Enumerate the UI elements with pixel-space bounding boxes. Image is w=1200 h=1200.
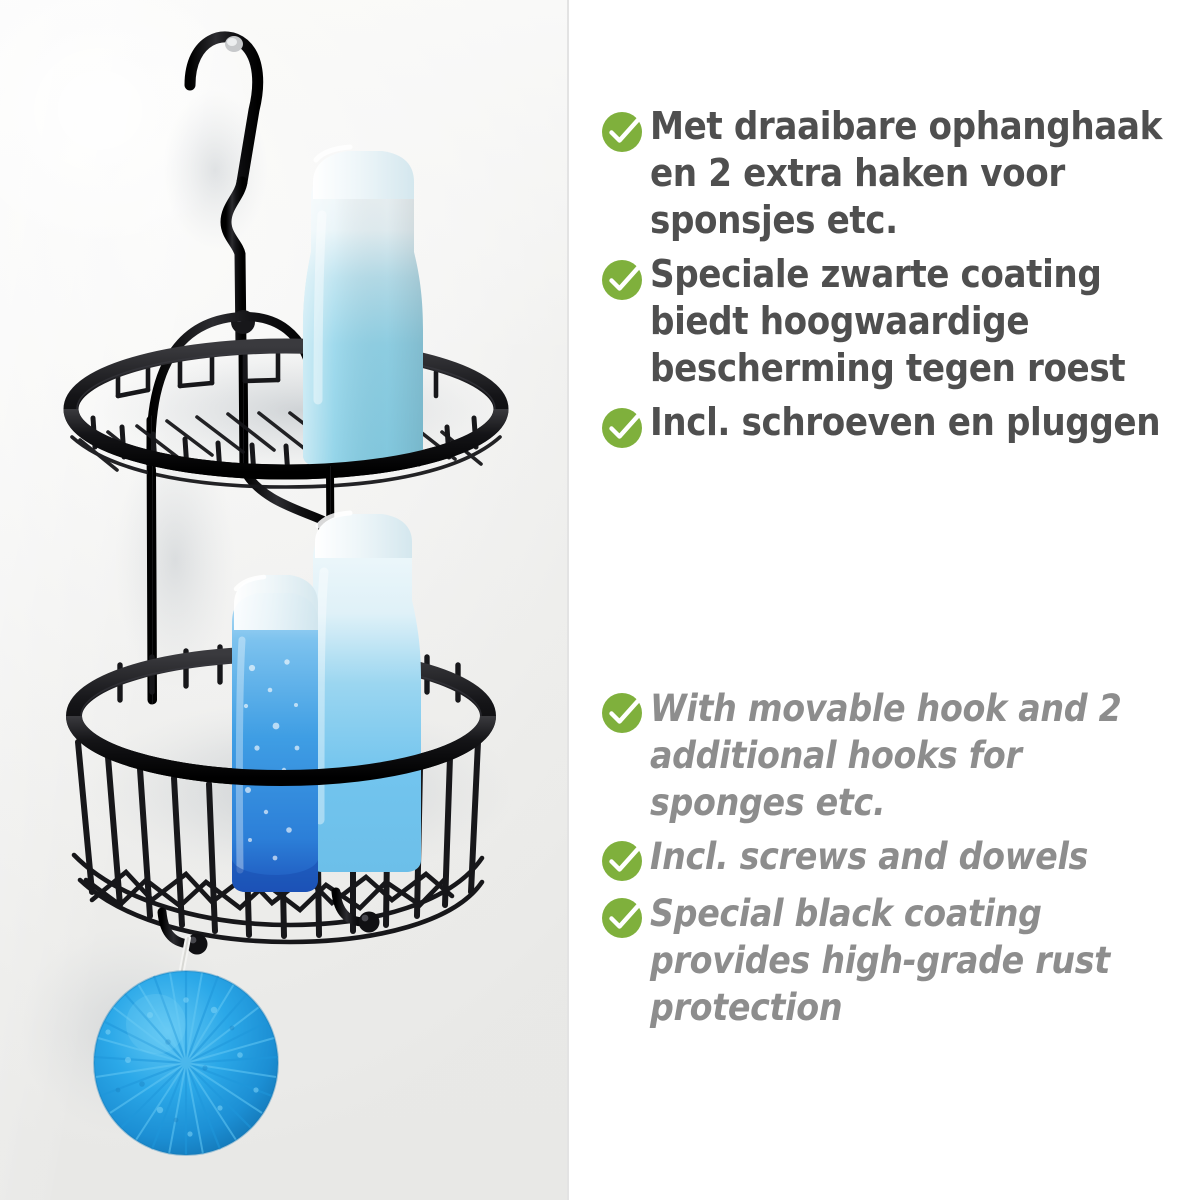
feature-item: With movable hook and 2 additional hooks… [600,685,1180,826]
check-circle-icon [600,837,646,883]
feature-list-dutch: Met draaibare ophanghaak en 2 extra hake… [600,103,1180,457]
feature-item: Incl. screws and dowels [600,833,1180,883]
shampoo-bottle-upper [303,147,423,466]
feature-list-english: With movable hook and 2 additional hooks… [600,685,1180,1038]
lotion-bottle-lower [309,513,421,872]
hook-ball-right [359,912,380,933]
feature-item: Met draaibare ophanghaak en 2 extra hake… [600,103,1180,244]
feature-text: Incl. screws and dowels [646,833,1180,880]
check-circle-icon [600,689,646,735]
feature-text: With movable hook and 2 additional hooks… [646,685,1180,826]
feature-item: Speciale zwarte coating biedt hoogwaardi… [600,251,1180,392]
check-circle-icon [600,256,646,302]
feature-list-panel: Met draaibare ophanghaak en 2 extra hake… [567,0,1200,1200]
feature-text: Special black coating provides high-grad… [646,890,1180,1031]
feature-text: Incl. schroeven en pluggen [646,399,1180,446]
check-circle-icon [600,404,646,450]
panel-divider [567,0,569,1200]
product-photo [0,0,567,1200]
gel-bottle-lower [232,575,318,892]
sponge-ball [94,971,278,1155]
feature-image-page: Met draaibare ophanghaak en 2 extra hake… [0,0,1200,1200]
feature-item: Incl. schroeven en pluggen [600,399,1180,450]
feature-text: Speciale zwarte coating biedt hoogwaardi… [646,251,1180,392]
feature-item: Special black coating provides high-grad… [600,890,1180,1031]
feature-text: Met draaibare ophanghaak en 2 extra hake… [646,103,1180,244]
check-circle-icon [600,108,646,154]
product-illustration [0,0,567,1200]
check-circle-icon [600,894,646,940]
